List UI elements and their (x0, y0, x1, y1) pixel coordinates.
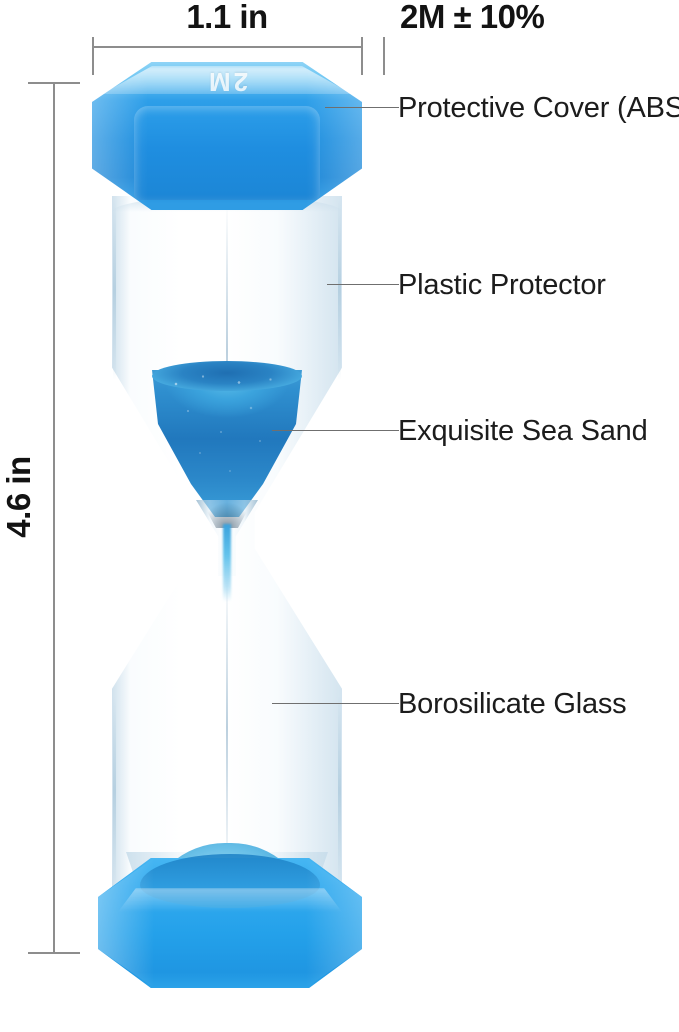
leader-line-sea-sand (272, 430, 399, 431)
callout-sea-sand: Exquisite Sea Sand (398, 415, 648, 448)
protective-cover-top: 2M (92, 62, 362, 210)
glass-neck (196, 500, 258, 576)
glass-edge-upper-left (113, 200, 116, 380)
protective-cover-top-inner-face (134, 106, 320, 200)
callout-plastic-protector: Plastic Protector (398, 269, 606, 302)
leader-line-plastic-protector (327, 284, 399, 285)
leader-line-borosilicate-glass (272, 703, 399, 704)
cap-embossed-2m-text: 2M (92, 66, 362, 97)
protective-cover-bottom-right-facet (306, 858, 362, 988)
hourglass-illustration: 2M (0, 0, 679, 1032)
falling-sand-stream (223, 524, 231, 602)
leader-line-protective-cover (325, 107, 399, 108)
glass-seam-lower (226, 568, 228, 888)
product-diagram: 1.1 in 2M ± 10% 4.6 in (0, 0, 679, 1032)
callout-borosilicate-glass: Borosilicate Glass (398, 688, 627, 721)
protective-cover-bottom (98, 858, 362, 988)
callout-protective-cover: Protective Cover (ABS) (398, 92, 679, 125)
glass-edge-upper-right (338, 200, 341, 380)
protective-cover-bottom-left-facet (98, 858, 154, 988)
